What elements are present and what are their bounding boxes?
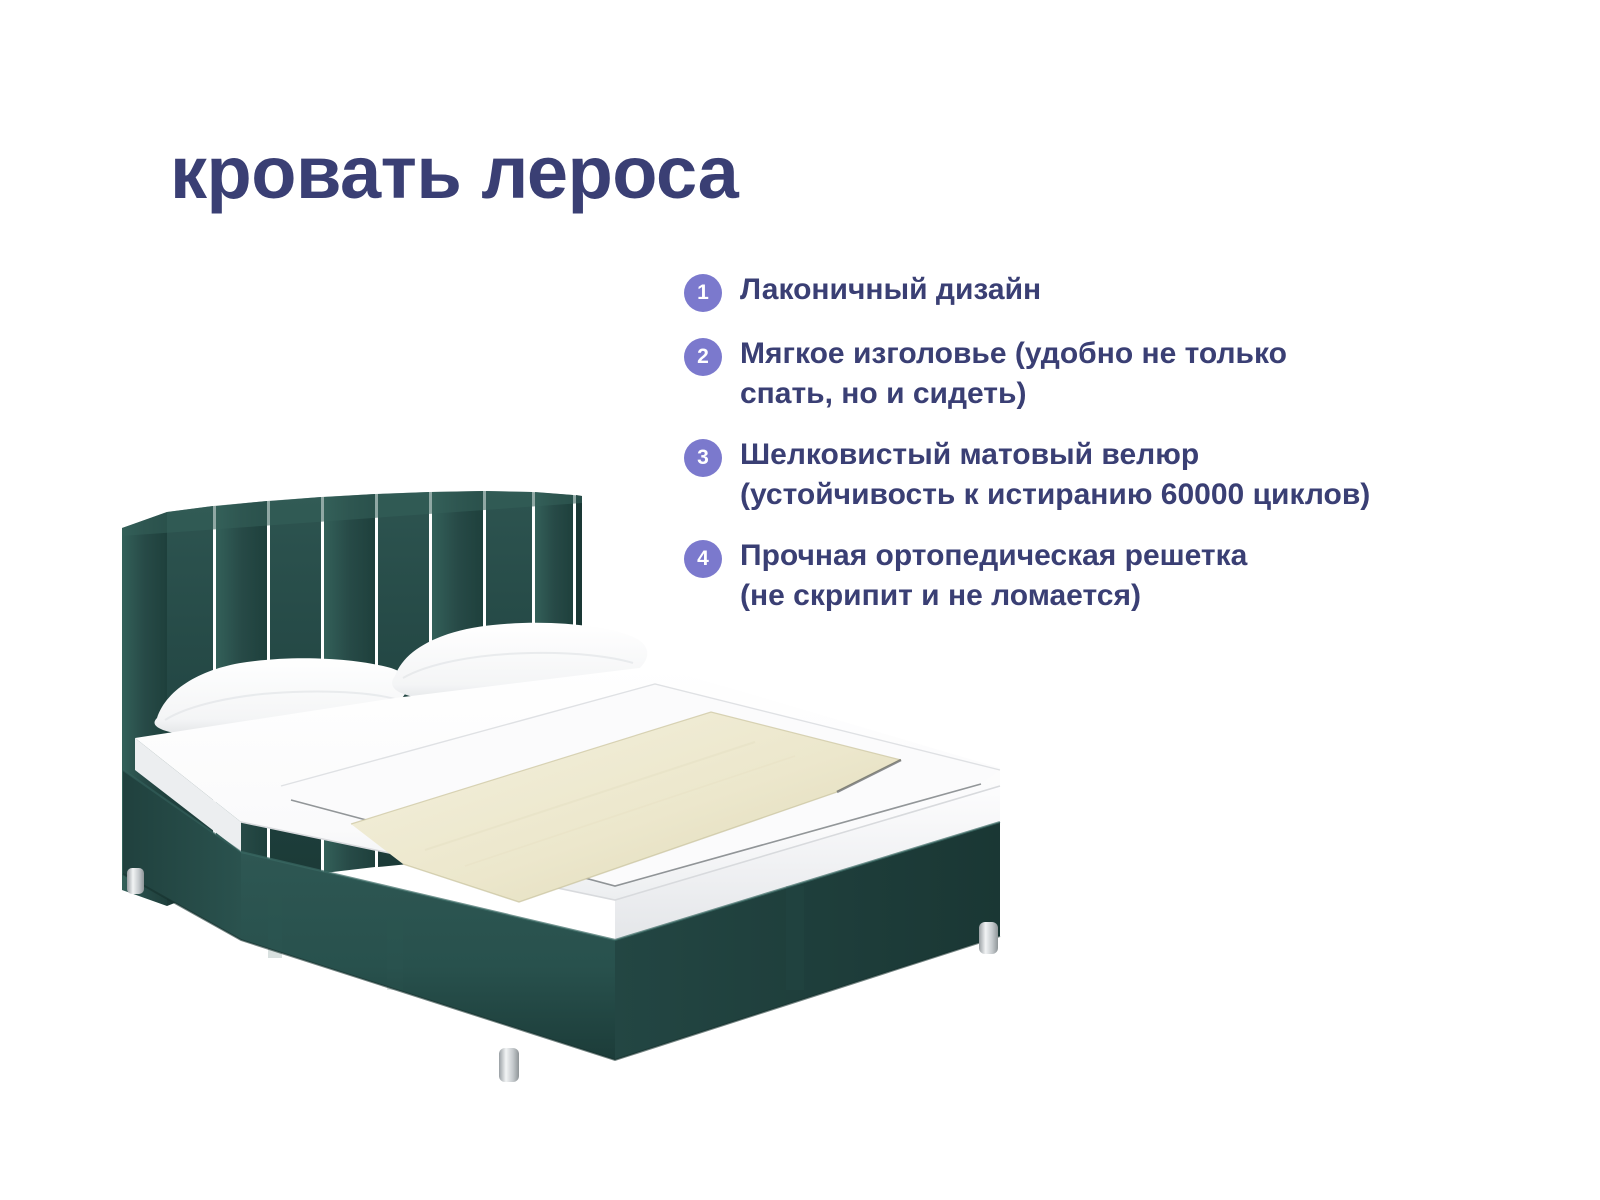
feature-text-1: Лаконичный дизайн — [740, 270, 1041, 310]
bed-leg-right — [979, 922, 998, 954]
page-title: кровать лероса — [170, 136, 738, 210]
feature-badge-1: 1 — [684, 274, 722, 312]
feature-text-2: Мягкое изголовье (удобно не только спать… — [740, 334, 1287, 413]
feature-item-2: 2 Мягкое изголовье (удобно не только спа… — [684, 334, 1504, 413]
feature-badge-2: 2 — [684, 338, 722, 376]
upholstered-bed-photo — [95, 470, 1055, 1110]
bed-leg-left — [127, 868, 144, 894]
bed-leg-front — [499, 1048, 519, 1082]
feature-item-1: 1 Лаконичный дизайн — [684, 270, 1504, 312]
product-card: кровать лероса 1 Лаконичный дизайн 2 Мяг… — [0, 0, 1600, 1200]
